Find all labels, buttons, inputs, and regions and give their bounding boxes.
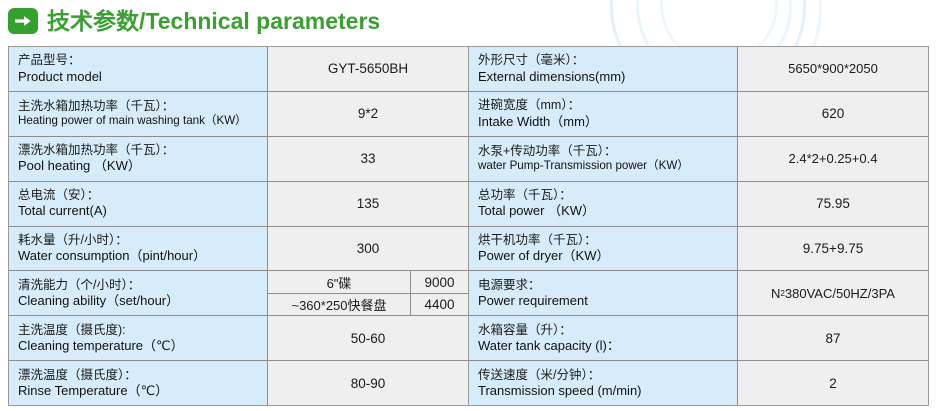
table-row: 产品型号： Product model GYT-5650BH	[9, 47, 468, 92]
table-row: 传送速度（米/分钟）： Transmission speed (m/min) 2	[469, 361, 928, 405]
param-label-en: Transmission speed (m/min)	[478, 383, 737, 399]
param-value: 620	[738, 92, 928, 136]
table-left-column: 产品型号： Product model GYT-5650BH 主洗水箱加热功率（…	[8, 46, 469, 406]
sub-row-name: ~360*250快餐盘	[268, 294, 411, 315]
technical-parameters-table: 产品型号： Product model GYT-5650BH 主洗水箱加热功率（…	[8, 46, 930, 406]
table-row: 水箱容量（升）： Water tank capacity (l)： 87	[469, 316, 928, 361]
param-label-cn: 传送速度（米/分钟）：	[478, 368, 737, 383]
table-row-power-requirement: 电源要求： Power requirement N2380VAC/50HZ/3P…	[469, 271, 928, 316]
param-value: 50-60	[268, 316, 468, 360]
sub-row-value: 4400	[411, 294, 468, 315]
power-value-prefix: N	[771, 286, 780, 301]
param-label-en: Total current(A)	[18, 203, 267, 219]
table-row: 外形尺寸（毫米）： External dimensions(mm) 5650*9…	[469, 47, 928, 92]
param-label: 总电流（安）： Total current(A)	[9, 182, 268, 226]
param-label-cn: 烘干机功率（千瓦）：	[478, 233, 737, 248]
table-row: 漂洗温度（摄氏度）： Rinse Temperature（℃） 80-90	[9, 361, 468, 405]
param-label-cn: 外形尺寸（毫米）：	[478, 53, 737, 68]
param-label-en: Power requirement	[478, 293, 737, 309]
param-label-en: Water consumption（pint/hour）	[18, 248, 267, 264]
param-label: 外形尺寸（毫米）： External dimensions(mm)	[469, 47, 738, 91]
param-label-cn: 漂洗水箱加热功率（千瓦）：	[18, 143, 267, 158]
param-label: 电源要求： Power requirement	[469, 271, 738, 315]
table-right-column: 外形尺寸（毫米）： External dimensions(mm) 5650*9…	[468, 46, 929, 406]
param-label-en: Power of dryer（KW）	[478, 248, 737, 264]
param-label-en: water Pump-Transmission power（KW）	[478, 159, 737, 173]
table-row: 主洗水箱加热功率（千瓦）： Heating power of main wash…	[9, 92, 468, 137]
param-value: 300	[268, 227, 468, 271]
param-label-cn: 进碗宽度（mm）：	[478, 98, 737, 113]
param-value: 2.4*2+0.25+0.4	[738, 137, 928, 181]
param-label-cn: 主洗温度（摄氏度):	[18, 323, 267, 338]
page-title: 技术参数/Technical parameters	[47, 10, 380, 33]
table-row: 耗水量（升/小时）： Water consumption（pint/hour） …	[9, 227, 468, 272]
param-label-en: Cleaning temperature（℃）	[18, 338, 267, 354]
param-label: 进碗宽度（mm）： Intake Width（mm）	[469, 92, 738, 136]
param-label-cn: 水箱容量（升）：	[478, 323, 737, 338]
param-value-split: 6"碟 9000 ~360*250快餐盘 4400	[268, 271, 468, 315]
table-row-cleaning-ability: 清洗能力（个/小时）： Cleaning ability（set/hour） 6…	[9, 271, 468, 316]
param-label: 清洗能力（个/小时）： Cleaning ability（set/hour）	[9, 271, 268, 315]
param-label-cn: 主洗水箱加热功率（千瓦）：	[18, 99, 267, 114]
param-label: 耗水量（升/小时）： Water consumption（pint/hour）	[9, 227, 268, 271]
param-label-en: Pool heating （KW）	[18, 158, 267, 174]
param-label: 水泵+传动功率（千瓦）： water Pump-Transmission pow…	[469, 137, 738, 181]
section-header: 技术参数/Technical parameters	[8, 5, 380, 37]
param-label-cn: 总功率（千瓦）：	[478, 188, 737, 203]
param-label: 传送速度（米/分钟）： Transmission speed (m/min)	[469, 361, 738, 405]
sub-row: ~360*250快餐盘 4400	[268, 294, 468, 315]
param-label-en: Rinse Temperature（℃）	[18, 383, 267, 399]
table-row: 水泵+传动功率（千瓦）： water Pump-Transmission pow…	[469, 137, 928, 182]
param-label: 主洗温度（摄氏度): Cleaning temperature（℃）	[9, 316, 268, 360]
table-row: 总电流（安）： Total current(A) 135	[9, 182, 468, 227]
param-label: 烘干机功率（千瓦）： Power of dryer（KW）	[469, 227, 738, 271]
param-value: 2	[738, 361, 928, 405]
param-label: 产品型号： Product model	[9, 47, 268, 91]
param-label: 水箱容量（升）： Water tank capacity (l)：	[469, 316, 738, 360]
param-value-power: N2380VAC/50HZ/3PA	[738, 271, 928, 315]
param-value: 80-90	[268, 361, 468, 405]
param-label-cn: 水泵+传动功率（千瓦）：	[478, 144, 737, 159]
param-value: 75.95	[738, 182, 928, 226]
power-value-suffix: 380VAC/50HZ/3PA	[785, 286, 895, 301]
param-value: 87	[738, 316, 928, 360]
param-label-en: Water tank capacity (l)：	[478, 338, 737, 354]
param-label-cn: 电源要求：	[478, 278, 737, 293]
table-row: 总功率（千瓦）： Total power （KW） 75.95	[469, 182, 928, 227]
param-value: 33	[268, 137, 468, 181]
sub-row-name: 6"碟	[268, 271, 411, 292]
param-label-en: Cleaning ability（set/hour）	[18, 293, 267, 309]
param-value: 9.75+9.75	[738, 227, 928, 271]
param-label-en: Total power （KW）	[478, 203, 737, 219]
param-label-cn: 漂洗温度（摄氏度）：	[18, 368, 267, 383]
param-label: 漂洗水箱加热功率（千瓦）： Pool heating （KW）	[9, 137, 268, 181]
table-row: 烘干机功率（千瓦）： Power of dryer（KW） 9.75+9.75	[469, 227, 928, 272]
param-label-en: External dimensions(mm)	[478, 69, 737, 85]
param-label-cn: 产品型号：	[18, 53, 267, 68]
param-label-cn: 总电流（安）：	[18, 188, 267, 203]
table-row: 进碗宽度（mm）： Intake Width（mm） 620	[469, 92, 928, 137]
table-row: 漂洗水箱加热功率（千瓦）： Pool heating （KW） 33	[9, 137, 468, 182]
param-label: 漂洗温度（摄氏度）： Rinse Temperature（℃）	[9, 361, 268, 405]
param-label-en: Heating power of main washing tank（KW）	[18, 114, 267, 128]
param-label: 总功率（千瓦）： Total power （KW）	[469, 182, 738, 226]
sub-row-value: 9000	[411, 271, 468, 292]
param-value: GYT-5650BH	[268, 47, 468, 91]
param-value: 5650*900*2050	[738, 47, 928, 91]
param-label-cn: 耗水量（升/小时）：	[18, 233, 267, 248]
arrow-right-icon	[8, 8, 38, 34]
param-label-en: Intake Width（mm）	[478, 114, 737, 130]
param-value: 135	[268, 182, 468, 226]
param-label: 主洗水箱加热功率（千瓦）： Heating power of main wash…	[9, 92, 268, 136]
sub-row: 6"碟 9000	[268, 271, 468, 293]
table-row: 主洗温度（摄氏度): Cleaning temperature（℃） 50-60	[9, 316, 468, 361]
param-label-en: Product model	[18, 69, 267, 85]
param-label-cn: 清洗能力（个/小时）：	[18, 278, 267, 293]
param-value: 9*2	[268, 92, 468, 136]
